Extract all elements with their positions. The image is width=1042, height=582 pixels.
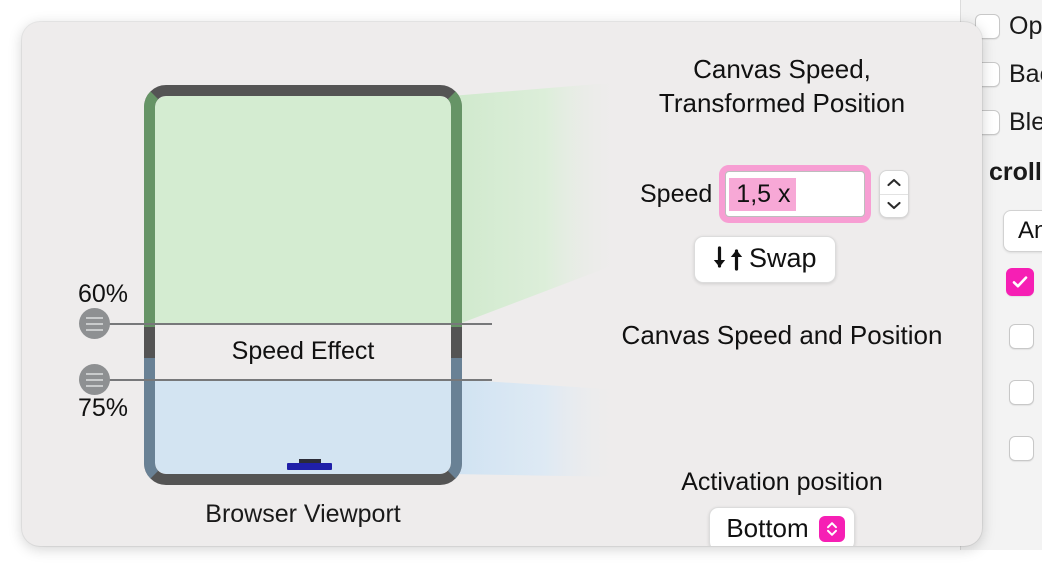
viewport-diagram-stage: Speed Effect 60% 75% Browser Viewport: [22, 22, 622, 546]
bg-label-op: Op: [1009, 12, 1042, 41]
grip-line: [86, 379, 103, 381]
grip-line: [86, 373, 103, 375]
canvas-speed-position-title: Canvas Speed and Position: [582, 318, 982, 352]
activation-position-value: Bottom: [726, 513, 808, 544]
grip-line: [86, 323, 103, 325]
bottom-ruler-line: [92, 379, 492, 381]
grip-line: [86, 329, 103, 331]
checkbox-row-6[interactable]: [1009, 436, 1034, 461]
bg-section-heading: croll: [989, 158, 1042, 187]
speed-spinner-group: 1,5 x: [725, 170, 909, 218]
bg-label-bac: Bac: [1009, 60, 1042, 89]
bottom-percent-label: 75%: [78, 394, 128, 423]
grip-line: [86, 317, 103, 319]
transformed-position-title-line1: Canvas Speed,: [582, 52, 982, 86]
grip-line: [86, 385, 103, 387]
transformed-position-title-line2: Transformed Position: [582, 86, 982, 120]
top-ruler-line: [92, 323, 492, 325]
stepper-decrement-button[interactable]: [880, 195, 908, 218]
swap-button[interactable]: Swap: [694, 236, 836, 283]
speed-effect-label: Speed Effect: [155, 324, 451, 379]
canvas-speed-popover: Speed Effect 60% 75% Browser Viewport: [22, 22, 982, 546]
bg-button-an[interactable]: An: [1003, 210, 1042, 252]
bg-row-op[interactable]: Op: [975, 12, 1042, 41]
activation-position-marker: [287, 463, 332, 470]
checkmark-icon: [1011, 273, 1029, 291]
swap-button-label: Swap: [749, 243, 817, 274]
chevron-up-down-icon: [825, 520, 839, 538]
chevron-down-icon: [886, 200, 902, 211]
select-chevron-badge[interactable]: [819, 516, 845, 542]
activation-position-label: Activation position: [582, 468, 982, 497]
bg-row-ble[interactable]: Ble: [975, 108, 1042, 137]
activation-position-select-wrap: Bottom: [582, 507, 982, 546]
speed-controls-column: Canvas Speed, Transformed Position Speed…: [582, 22, 982, 546]
bottom-slider-handle[interactable]: [79, 364, 110, 395]
stepper-increment-button[interactable]: [880, 171, 908, 195]
screen-root: Op Bac Ble croll An: [0, 0, 1042, 582]
activation-position-select[interactable]: Bottom: [709, 507, 854, 546]
browser-viewport-caption: Browser Viewport: [144, 500, 462, 529]
top-slider-handle[interactable]: [79, 308, 110, 339]
speed-label: Speed: [640, 180, 712, 209]
transformed-position-title: Canvas Speed, Transformed Position: [582, 52, 982, 120]
speed-input[interactable]: 1,5 x: [725, 171, 865, 217]
blue-perspective-slab: [451, 379, 622, 477]
bg-row-bac[interactable]: Bac: [975, 60, 1042, 89]
speed-field-row: Speed 1,5 x: [582, 170, 982, 218]
bg-label-ble: Ble: [1009, 108, 1042, 137]
checkbox-checked-active[interactable]: [1006, 268, 1034, 296]
browser-viewport-frame: [144, 85, 462, 485]
speed-input-selection: 1,5 x: [729, 178, 795, 211]
green-perspective-slab: [451, 82, 622, 327]
speed-stepper[interactable]: [879, 170, 909, 218]
swap-arrows: [711, 245, 745, 272]
checkbox-row-4[interactable]: [1009, 324, 1034, 349]
top-percent-label: 60%: [78, 280, 128, 309]
arrow-down-icon: [711, 245, 728, 272]
checkbox-row-5[interactable]: [1009, 380, 1034, 405]
arrow-up-icon: [728, 245, 745, 272]
speed-input-value: 1,5 x: [736, 182, 790, 207]
chevron-up-icon: [886, 177, 902, 188]
